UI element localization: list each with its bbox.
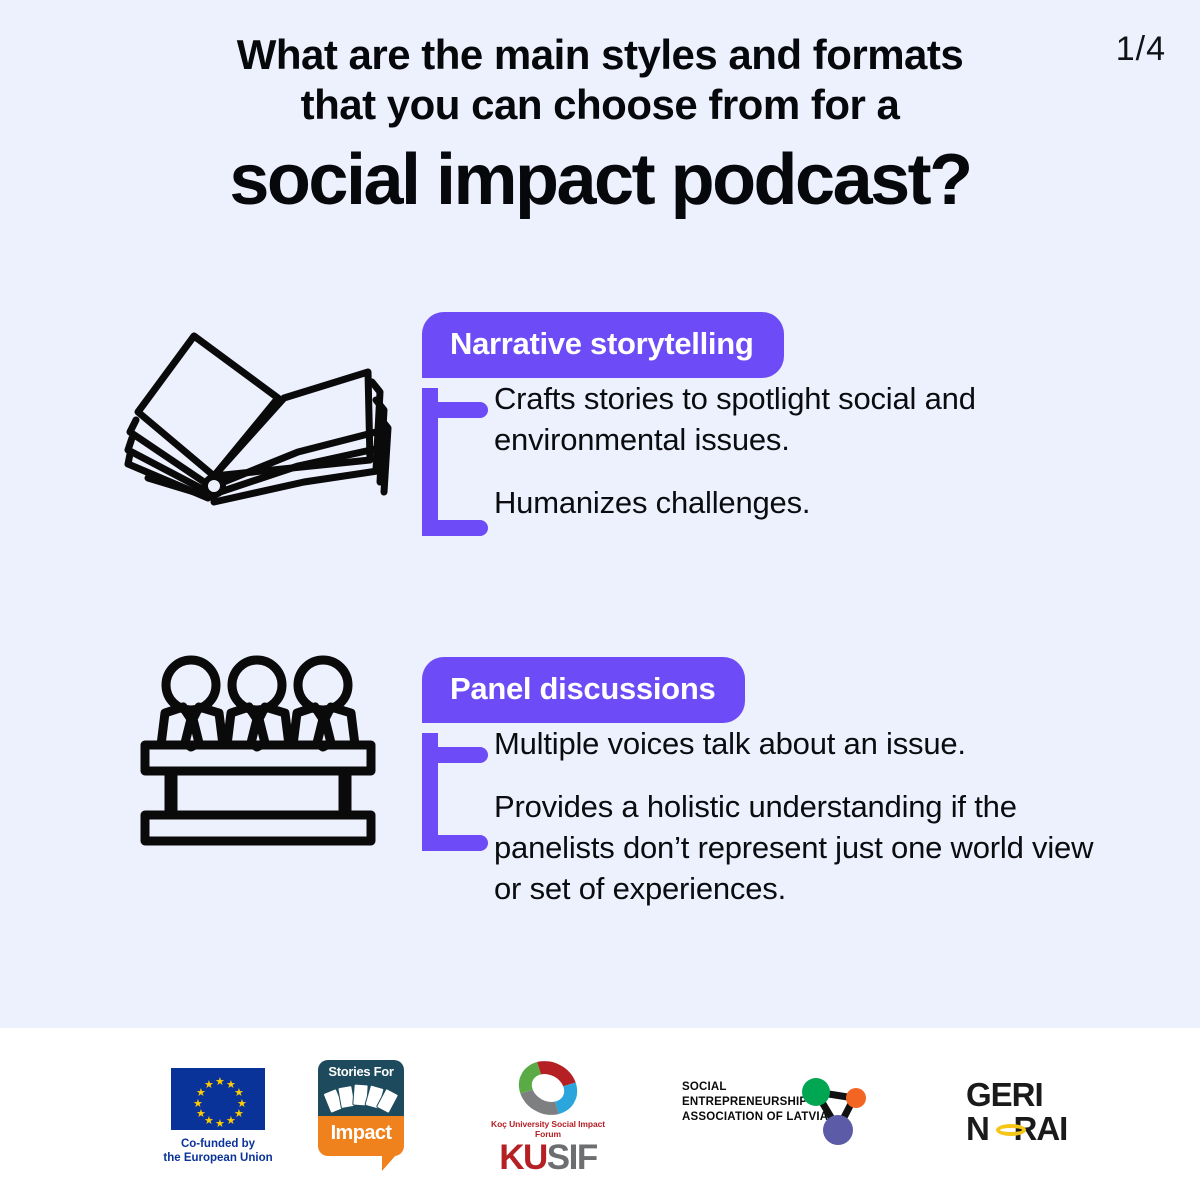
- eu-caption-line-1: Co-funded by: [118, 1137, 318, 1151]
- panel-of-speakers-icon: [118, 655, 398, 855]
- kusif-word-part-1: KU: [499, 1138, 547, 1177]
- kusif-subtitle: Koç University Social Impact Forum: [478, 1119, 618, 1139]
- bullet-item: Humanizes challenges.: [494, 482, 1122, 523]
- section-content: Panel discussions Multiple voices talk a…: [422, 657, 1122, 909]
- logo-kusif: Koç University Social Impact Forum KUSIF: [478, 1060, 618, 1177]
- sfi-bottom-panel: Impact: [318, 1116, 404, 1156]
- title-line-2: that you can choose from for a: [0, 80, 1200, 130]
- eu-flag-icon: ★ ★ ★ ★ ★ ★ ★ ★ ★ ★ ★ ★: [171, 1068, 265, 1130]
- kusif-word-part-2: SIF: [547, 1138, 597, 1177]
- logo-geri-norai: GERI NORAI: [966, 1078, 1096, 1146]
- bullet-item: Multiple voices talk about an issue.: [494, 723, 1122, 764]
- content-section-panel-discussions: Panel discussions Multiple voices talk a…: [0, 645, 1200, 975]
- logo-stories-for-impact: Stories For Impact: [318, 1060, 410, 1168]
- halo-ring-icon: [996, 1124, 1026, 1136]
- title-line-3: social impact podcast?: [0, 134, 1200, 226]
- open-book-icon: [118, 320, 398, 520]
- geri-norai-line-2-left: N: [966, 1110, 989, 1147]
- bracket-arm: [422, 747, 488, 763]
- kusif-wordmark: KUSIF: [478, 1139, 618, 1177]
- page-title: What are the main styles and formats tha…: [0, 30, 1200, 226]
- section-badge-narrative-storytelling[interactable]: Narrative storytelling: [422, 312, 784, 378]
- kusif-swirl-icon: [513, 1060, 583, 1118]
- speech-bubble-tail-icon: [382, 1155, 396, 1171]
- bracket-arm: [422, 402, 488, 418]
- network-nodes-icon: [794, 1074, 872, 1148]
- bracket-arm: [422, 835, 488, 851]
- eu-caption-line-2: the European Union: [118, 1151, 318, 1165]
- bracket-arm: [422, 520, 488, 536]
- content-section-narrative-storytelling: Narrative storytelling Crafts stories to…: [0, 300, 1200, 600]
- sfi-bottom-text: Impact: [318, 1116, 404, 1145]
- section-badge-panel-discussions[interactable]: Panel discussions: [422, 657, 745, 723]
- logo-european-union: ★ ★ ★ ★ ★ ★ ★ ★ ★ ★ ★ ★ Co-funded by the…: [118, 1068, 318, 1165]
- logo-social-entrepreneurship-association-of-latvia: SOCIAL ENTREPRENEURSHIP ASSOCIATION OF L…: [682, 1080, 872, 1125]
- footer-logo-bar: ★ ★ ★ ★ ★ ★ ★ ★ ★ ★ ★ ★ Co-funded by the…: [0, 1028, 1200, 1200]
- title-line-1: What are the main styles and formats: [0, 30, 1200, 80]
- bullet-item: Provides a holistic understanding if the…: [494, 786, 1122, 909]
- sfi-top-text: Stories For: [318, 1060, 404, 1079]
- bracket-bullet-list: Multiple voices talk about an issue. Pro…: [422, 723, 1122, 909]
- bullet-item: Crafts stories to spotlight social and e…: [494, 378, 1122, 460]
- bracket-bullet-list: Crafts stories to spotlight social and e…: [422, 378, 1122, 523]
- geri-norai-line-1: GERI: [966, 1078, 1096, 1112]
- geri-norai-line-2: NORAI: [966, 1112, 1096, 1146]
- section-content: Narrative storytelling Crafts stories to…: [422, 312, 1122, 523]
- sfi-top-panel: Stories For: [318, 1060, 404, 1116]
